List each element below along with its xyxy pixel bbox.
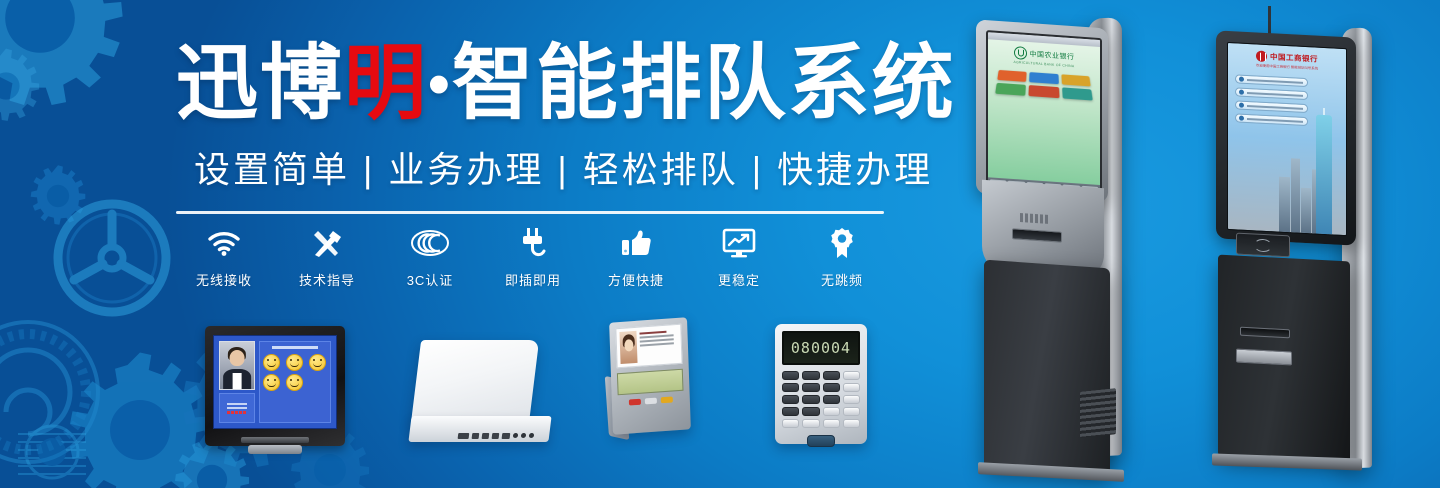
monitor-chart-icon: [722, 224, 756, 262]
kiosk-abc-vent: [1080, 388, 1116, 438]
feature-item-plug-and-play: 即插即用: [485, 224, 581, 289]
evaluator-button-red[interactable]: [629, 399, 641, 406]
abc-service-tiles[interactable]: [995, 70, 1093, 101]
host-ports: [458, 432, 541, 439]
contactless-icon: [1254, 238, 1272, 252]
face-sad: [263, 374, 280, 391]
kiosk-icbc: 中国工商银行 欢迎使用中国工商银行 智能排队叫号系统: [1190, 6, 1400, 478]
feature-item-tech-support: 技术指导: [279, 224, 375, 289]
evaluator-name-card: [615, 324, 682, 369]
abc-bank-name: 中国农业银行: [1030, 49, 1075, 62]
icbc-menu-item-corporate[interactable]: [1235, 100, 1308, 113]
host-body: [411, 340, 539, 424]
page-subtitle: 设置简单 | 业务办理 | 轻松排队 | 快捷办理: [194, 146, 894, 194]
kiosk-icbc-screen[interactable]: 中国工商银行 欢迎使用中国工商银行 智能排队叫号系统: [1227, 42, 1347, 236]
kiosk-icbc-head: 中国工商银行 欢迎使用中国工商银行 智能排队叫号系统: [1216, 30, 1356, 245]
staff-panel: [219, 341, 255, 423]
monitor-stand: [248, 445, 302, 454]
feature-list: 无线接收 技术指导 3C认证: [176, 224, 890, 294]
title-separator-dot: •: [428, 50, 452, 119]
kiosk-abc: 中国农业银行 AGRICULTURAL BANK OF CHINA: [960, 18, 1156, 478]
evaluation-panel: [259, 341, 331, 423]
icbc-tower-graphic: [1316, 115, 1332, 235]
face-happy: [286, 354, 303, 371]
feature-label: 方便快捷: [608, 270, 664, 289]
staff-info: [219, 393, 255, 423]
face-very-happy: [263, 354, 280, 371]
product-desktop-evaluator: [605, 320, 697, 446]
title-part-1: 迅博: [176, 38, 344, 129]
feature-item-stability: 更稳定: [691, 224, 787, 289]
feature-item-no-frequency-hopping: 无跳频: [794, 224, 890, 289]
promo-banner: 迅博明•智能排队系统 设置简单 | 业务办理 | 轻松排队 | 快捷办理 无线接…: [0, 0, 1440, 488]
icbc-skyline-graphic: [1278, 113, 1344, 235]
abc-logo-mark: [1014, 46, 1027, 60]
face-neutral: [309, 354, 326, 371]
feature-label: 无线接收: [196, 270, 252, 289]
icbc-menu-item-personal[interactable]: [1235, 74, 1308, 87]
feature-label: 3C认证: [407, 270, 454, 289]
emoji-rating-faces: [262, 354, 328, 391]
kiosk-abc-screen[interactable]: 中国农业银行 AGRICULTURAL BANK OF CHINA: [986, 30, 1102, 196]
ccc-icon: [410, 224, 450, 262]
kiosk-icbc-brand-plate: [1236, 349, 1292, 366]
monitor-base: [241, 437, 308, 443]
icbc-menu-item-vip[interactable]: [1235, 87, 1308, 100]
divider-line: [176, 211, 884, 214]
evaluator-body: [609, 317, 691, 434]
rating-stars: [227, 411, 246, 414]
wifi-icon: [207, 224, 241, 262]
keypad-display-value: 080004: [791, 339, 851, 357]
thumbs-up-icon: [620, 224, 652, 262]
feature-label: 无跳频: [821, 270, 863, 289]
keypad-buttons[interactable]: [782, 371, 860, 428]
feature-item-wireless: 无线接收: [176, 224, 272, 289]
kiosk-icbc-card-reader[interactable]: [1236, 233, 1290, 258]
face-angry: [286, 374, 303, 391]
keypad-enter-button[interactable]: [807, 435, 835, 447]
icbc-bank-name: 中国工商银行: [1270, 51, 1318, 65]
product-showcase: 080004: [0, 318, 900, 468]
plug-icon: [518, 224, 548, 262]
feature-item-convenient: 方便快捷: [588, 224, 684, 289]
icbc-logo-mark: [1256, 50, 1267, 62]
product-keypad-terminal: 080004: [775, 324, 867, 444]
page-title: 迅博明•智能排队系统: [176, 36, 896, 133]
kiosk-abc-body: [984, 260, 1110, 477]
title-accent-char: 明: [344, 38, 428, 129]
kiosk-abc-head: 中国农业银行 AGRICULTURAL BANK OF CHINA: [976, 19, 1108, 202]
feature-label: 更稳定: [718, 270, 760, 289]
staff-portrait: [619, 331, 637, 364]
evaluator-buttons: [618, 396, 684, 407]
evaluator-lcd: [617, 369, 684, 396]
keypad-display: 080004: [782, 331, 860, 365]
award-ribbon-icon: [828, 224, 856, 262]
monitor-screen: [213, 335, 337, 429]
keypad-body: 080004: [775, 324, 867, 444]
product-evaluation-monitor: [205, 326, 345, 446]
title-part-2: 智能排队系统: [452, 38, 956, 129]
tools-icon: [311, 224, 343, 262]
evaluator-button-gray[interactable]: [645, 398, 657, 405]
feature-label: 技术指导: [299, 270, 355, 289]
evaluator-button-yellow[interactable]: [661, 396, 673, 403]
feature-label: 即插即用: [505, 270, 561, 289]
staff-photo: [219, 341, 255, 390]
product-host-controller: [410, 340, 550, 448]
feature-item-ccc: 3C认证: [382, 224, 478, 289]
